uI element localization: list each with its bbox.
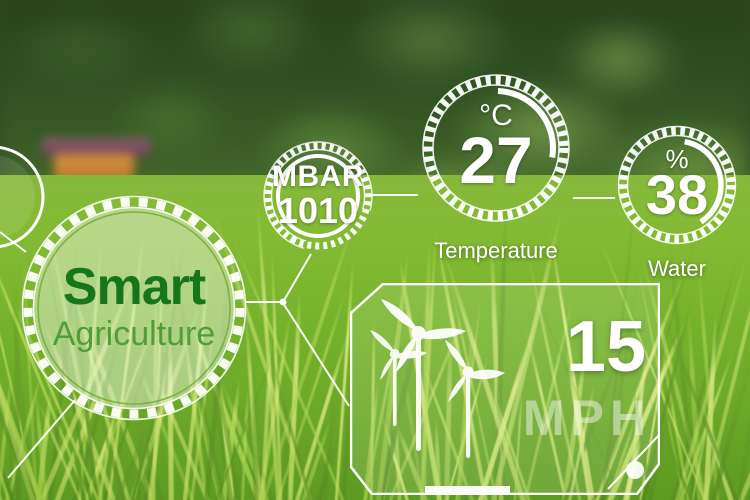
temperature-label: Temperature xyxy=(418,238,574,264)
temperature-value: 27 xyxy=(459,129,532,192)
wind-panel-bottom-bar xyxy=(425,486,510,494)
wind-speed-unit: MPH xyxy=(523,393,652,443)
pressure-unit: MBAR xyxy=(272,162,364,193)
connector-node-icon xyxy=(280,299,287,306)
link-node-to-wind-lower xyxy=(283,303,349,406)
wind-turbine-icon xyxy=(445,340,505,458)
water-label: Water xyxy=(614,256,740,282)
wind-speed-value: 15 xyxy=(566,311,646,383)
logo-line-1: Smart xyxy=(63,261,205,313)
pressure-value: 1010 xyxy=(278,193,358,230)
smart-agriculture-dashboard: Smart Agriculture MBAR 1010 °C 27 xyxy=(0,0,750,500)
link-node-to-pressure xyxy=(283,254,311,302)
temperature-gauge[interactable]: °C 27 Temperature xyxy=(418,70,574,226)
logo-line-2: Agriculture xyxy=(53,313,216,356)
water-gauge[interactable]: % 38 Water xyxy=(614,122,740,248)
panel-corner-dot-icon xyxy=(626,461,644,479)
water-value: 38 xyxy=(646,168,708,221)
smart-agriculture-logo[interactable]: Smart Agriculture xyxy=(20,194,248,422)
wind-speed-panel[interactable]: 15 MPH xyxy=(350,283,660,495)
pressure-gauge[interactable]: MBAR 1010 xyxy=(262,140,374,252)
